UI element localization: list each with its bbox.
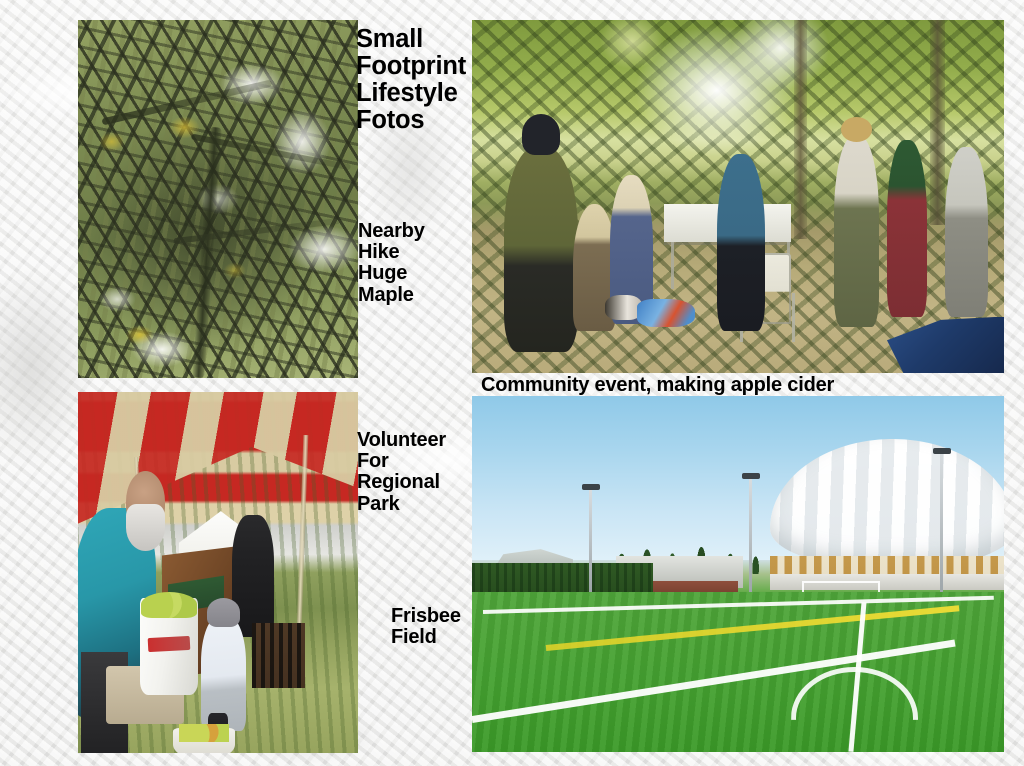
green-apples	[141, 592, 197, 617]
tree-trunk	[192, 127, 221, 378]
blue-tarp	[887, 317, 1004, 373]
person-cowboy-hat	[834, 136, 879, 327]
page-title: SmallFootprintLifestyleFotos	[356, 26, 474, 134]
caption-volunteer-for-regional-park: VolunteerForRegionalPark	[357, 430, 477, 515]
caption-community-event: Community event, making apple cider	[481, 375, 834, 396]
child-beanie	[207, 598, 241, 627]
bowl-apples	[179, 724, 229, 742]
maple-tree-photo	[78, 20, 358, 378]
light-pole	[589, 489, 592, 596]
volunteer-tent-photo	[78, 392, 358, 753]
light-pole	[749, 478, 752, 599]
light-pole	[940, 453, 943, 603]
person-grey-shirt	[945, 147, 988, 316]
stadium-base	[770, 556, 1004, 576]
person-olive-shirt	[504, 147, 578, 352]
community-event-photo	[472, 20, 1004, 373]
tree-branch	[102, 79, 273, 125]
person-beard	[126, 504, 165, 551]
wooden-crate	[252, 623, 305, 688]
person-teal-shirt	[717, 154, 765, 331]
tree-trunk	[794, 20, 807, 239]
beach-towel	[637, 299, 696, 327]
person-red-overalls	[887, 140, 927, 317]
slide-canvas: SmallFootprintLifestyleFotos NearbyHikeH…	[0, 0, 1024, 766]
frisbee-field-photo	[472, 396, 1004, 752]
turf-field	[472, 592, 1004, 752]
caption-frisbee-field: FrisbeeField	[391, 606, 491, 648]
tree-branch	[173, 217, 340, 243]
caption-nearby-hike-huge-maple: NearbyHikeHugeMaple	[358, 221, 472, 306]
tree-trunk	[930, 20, 946, 225]
